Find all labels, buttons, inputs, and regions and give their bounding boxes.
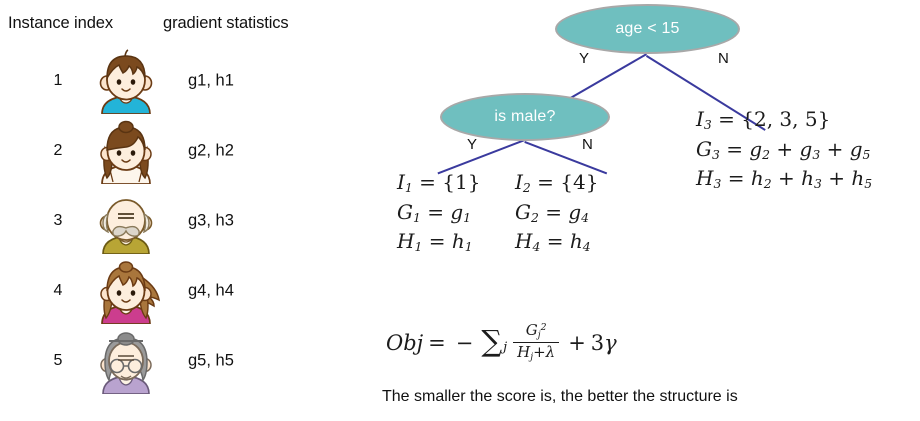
- row-gradient-stats: g2, h2: [188, 142, 234, 161]
- leaf-3-instance-set: I3 = {2, 3, 5}: [696, 105, 872, 135]
- leaf-1-instance-set: I1 = {1}: [397, 168, 480, 198]
- row-gradient-stats: g5, h5: [188, 352, 234, 371]
- row-index-label: 1: [48, 72, 68, 90]
- leaf-1-gradient-sum: G1 = g1: [397, 198, 480, 228]
- fraction-denominator: Hj+λ: [513, 342, 559, 363]
- summation-operator: ∑ j: [481, 330, 507, 355]
- leaf-3-gradient-sum: G3 = g2 + g3 + g5: [696, 135, 872, 165]
- objective-minus: −: [456, 331, 474, 355]
- leaf-3-formulas: I3 = {2, 3, 5} G3 = g2 + g3 + g5 H3 = h2…: [696, 105, 872, 194]
- leaf-2-gradient-sum: G2 = g4: [515, 198, 598, 228]
- row-index-label: 4: [48, 282, 68, 300]
- objective-plus: +: [568, 331, 586, 355]
- branch-label-root-yes: Y: [579, 50, 589, 67]
- leaf-1-formulas: I1 = {1} G1 = g1 H1 = h1: [397, 168, 480, 257]
- column-header-gradient-statistics: gradient statistics: [163, 14, 289, 33]
- table-row: 4 g4, h4: [0, 256, 330, 326]
- gamma-coefficient: 3: [591, 331, 604, 355]
- boy-avatar: [88, 48, 164, 114]
- girl-avatar: [88, 118, 164, 184]
- decision-tree-panel: age < 15 is male? Y N Y N I1 = {1} G1 = …: [360, 0, 920, 421]
- caption-text: The smaller the score is, the better the…: [382, 388, 738, 406]
- leaf-1-hessian-sum: H1 = h1: [397, 227, 480, 257]
- leaf-3-hessian-sum: H3 = h2 + h3 + h5: [696, 164, 872, 194]
- row-index-label: 5: [48, 352, 68, 370]
- table-row: 5 g5, h5: [0, 326, 330, 396]
- column-header-instance-index: Instance index: [8, 14, 113, 33]
- gamma-symbol: γ: [604, 331, 617, 355]
- branch-label-male-yes: Y: [467, 136, 477, 153]
- tree-node-root-age[interactable]: age < 15: [555, 4, 740, 54]
- branch-label-male-no: N: [582, 136, 593, 153]
- row-gradient-stats: g3, h3: [188, 212, 234, 231]
- fraction-numerator: Gj2: [522, 322, 551, 342]
- sigma-icon: ∑: [481, 330, 502, 353]
- row-index-label: 2: [48, 142, 68, 160]
- instance-table-panel: Instance index gradient statistics 1: [0, 0, 360, 421]
- leaf-2-instance-set: I2 = {4}: [515, 168, 598, 198]
- table-row: 2 g2, h2: [0, 116, 330, 186]
- row-index-label: 3: [48, 212, 68, 230]
- leaf-2-formulas: I2 = {4} G2 = g4 H4 = h4: [515, 168, 598, 257]
- leaf-2-hessian-sum: H4 = h4: [515, 227, 598, 257]
- young-woman-avatar: [88, 258, 164, 324]
- old-man-avatar: [88, 188, 164, 254]
- row-gradient-stats: g1, h1: [188, 72, 234, 91]
- old-woman-avatar: [88, 328, 164, 394]
- objective-function-equation: Obj = − ∑ j Gj2 Hj+λ + 3 γ: [386, 322, 617, 364]
- objective-fraction: Gj2 Hj+λ: [513, 322, 559, 364]
- row-gradient-stats: g4, h4: [188, 282, 234, 301]
- objective-lhs: Obj: [386, 331, 423, 355]
- table-row: 3 g3, h3: [0, 186, 330, 256]
- tree-node-is-male[interactable]: is male?: [440, 93, 610, 141]
- objective-equals: =: [428, 331, 446, 355]
- summation-index: j: [503, 340, 507, 355]
- branch-label-root-no: N: [718, 50, 729, 67]
- table-row: 1 g1, h1: [0, 46, 330, 116]
